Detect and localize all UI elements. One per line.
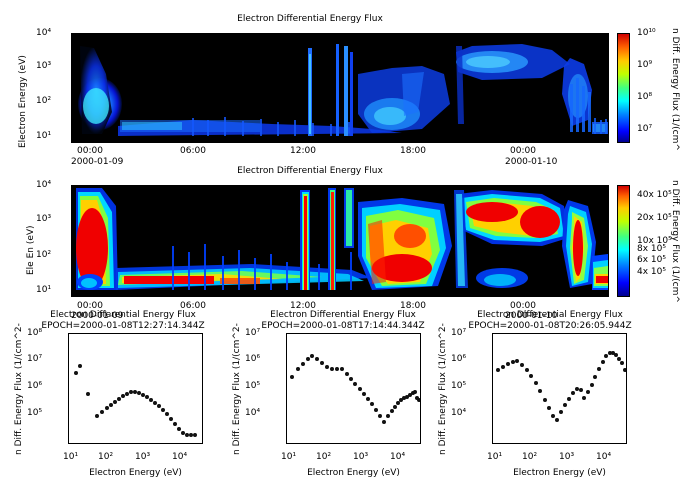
l3-ytick-1: 10⁶ [451,354,466,364]
s1-xtick-2: 12:00 [290,146,316,156]
l2-xtick-2: 10³ [353,452,368,462]
spectrogram2-colorbar-label: n Diff. Energy Flux (1/(cm^ [670,180,680,303]
l1-xtick-3: 10⁴ [172,452,187,462]
spectrogram1-colorbar[interactable] [617,33,630,143]
l3-ytick-0: 10⁷ [451,328,466,338]
spectrogram2-colorbar[interactable] [617,185,630,297]
s1-ytick-1: 10³ [36,61,51,71]
l3-xtick-1: 10² [522,452,537,462]
s2-cbtick-4: 6x 10⁵ [637,255,666,265]
line3-subtitle: EPOCH=2000-01-08T20:26:05.944Z [450,321,650,331]
s2-cbtick-3: 8x 10⁵ [637,244,666,254]
l1-xtick-1: 10² [98,452,113,462]
line2-x-ticks: 10¹ 10² 10³ 10⁴ [218,452,458,466]
l3-ytick-2: 10⁵ [451,381,466,391]
s1-xtick-1: 06:00 [180,146,206,156]
line3-ylabel: n Diff. Energy Flux (1/(cm^2- [438,323,448,455]
spectrogram1-title: Electron Differential Energy Flux [0,14,620,24]
line2-ylabel: n Diff. Energy Flux (1/(cm^2- [232,323,242,455]
l3-xtick-0: 10¹ [487,452,502,462]
l2-xtick-1: 10² [316,452,331,462]
l1-xtick-2: 10³ [135,452,150,462]
spectrogram1-plot-area[interactable] [71,33,609,143]
s2-ytick-2: 10² [36,250,51,260]
s1-ytick-3: 10¹ [36,131,51,141]
line2-plot-area[interactable] [286,333,421,444]
s1-ytick-0: 10⁴ [36,28,51,38]
l3-xtick-2: 10³ [559,452,574,462]
line3-scatter-svg [493,334,626,443]
s1-xtick-3: 18:00 [400,146,426,156]
l2-ytick-1: 10⁶ [245,354,260,364]
s1-cbtick-2: 10⁸ [637,92,652,102]
l1-ytick-1: 10⁷ [27,354,42,364]
s1-ytick-2: 10² [36,96,51,106]
s2-cbtick-5: 4x 10⁵ [637,267,666,277]
l2-xtick-0: 10¹ [281,452,296,462]
l2-xtick-3: 10⁴ [390,452,405,462]
line2-scatter-svg [287,334,420,443]
spectrogram2-title: Electron Differential Energy Flux [0,166,620,176]
line1-subtitle: EPOCH=2000-01-08T12:27:14.344Z [18,321,228,331]
spectrogram2-plot-area[interactable] [71,185,609,297]
line1-title: Electron Differential Energy Flux [28,310,218,320]
line1-xlabel: Electron Energy (eV) [68,468,203,478]
s2-cbtick-1: 20x 10⁵ [637,213,672,223]
s1-xtick-0: 00:00 [77,146,103,156]
l2-ytick-0: 10⁷ [245,328,260,338]
l1-xtick-0: 10¹ [63,452,78,462]
s2-ytick-1: 10³ [36,214,51,224]
l1-ytick-0: 10⁸ [27,328,42,338]
s1-xtick-4: 00:00 [510,146,536,156]
s1-cbtick-0: 10¹⁰ [637,28,656,38]
line3-x-ticks: 10¹ 10² 10³ 10⁴ [424,452,664,466]
s2-ytick-3: 10¹ [36,285,51,295]
l1-ytick-2: 10⁶ [27,381,42,391]
line2-title: Electron Differential Energy Flux [248,310,438,320]
spectrogram2-ylabel: Ele En (eV) [26,225,36,275]
s1-cbtick-3: 10⁷ [637,124,652,134]
l2-ytick-2: 10⁵ [245,381,260,391]
l3-xtick-3: 10⁴ [596,452,611,462]
spectrogram1-ylabel: Electron Energy (eV) [18,55,28,148]
l3-ytick-3: 10⁴ [451,408,466,418]
line1-x-ticks: 10¹ 10² 10³ 10⁴ [0,452,240,466]
line3-plot-area[interactable] [492,333,627,444]
s2-ytick-0: 10⁴ [36,180,51,190]
line2-xlabel: Electron Energy (eV) [286,468,421,478]
line3-xlabel: Electron Energy (eV) [492,468,627,478]
s2-cbtick-0: 40x 10⁵ [637,190,672,200]
line1-plot-area[interactable] [68,333,203,444]
s1-cbtick-1: 10⁹ [637,60,652,70]
line3-title: Electron Differential Energy Flux [455,310,645,320]
l2-ytick-3: 10⁴ [245,408,260,418]
line1-scatter-svg [69,334,202,443]
l1-ytick-3: 10⁵ [27,408,42,418]
line2-subtitle: EPOCH=2000-01-08T17:14:44.344Z [243,321,443,331]
spectrogram1-colorbar-label: n Diff. Energy Flux (1/(cm^ [670,28,680,151]
line1-ylabel: n Diff. Energy Flux (1/(cm^2- [14,323,24,455]
